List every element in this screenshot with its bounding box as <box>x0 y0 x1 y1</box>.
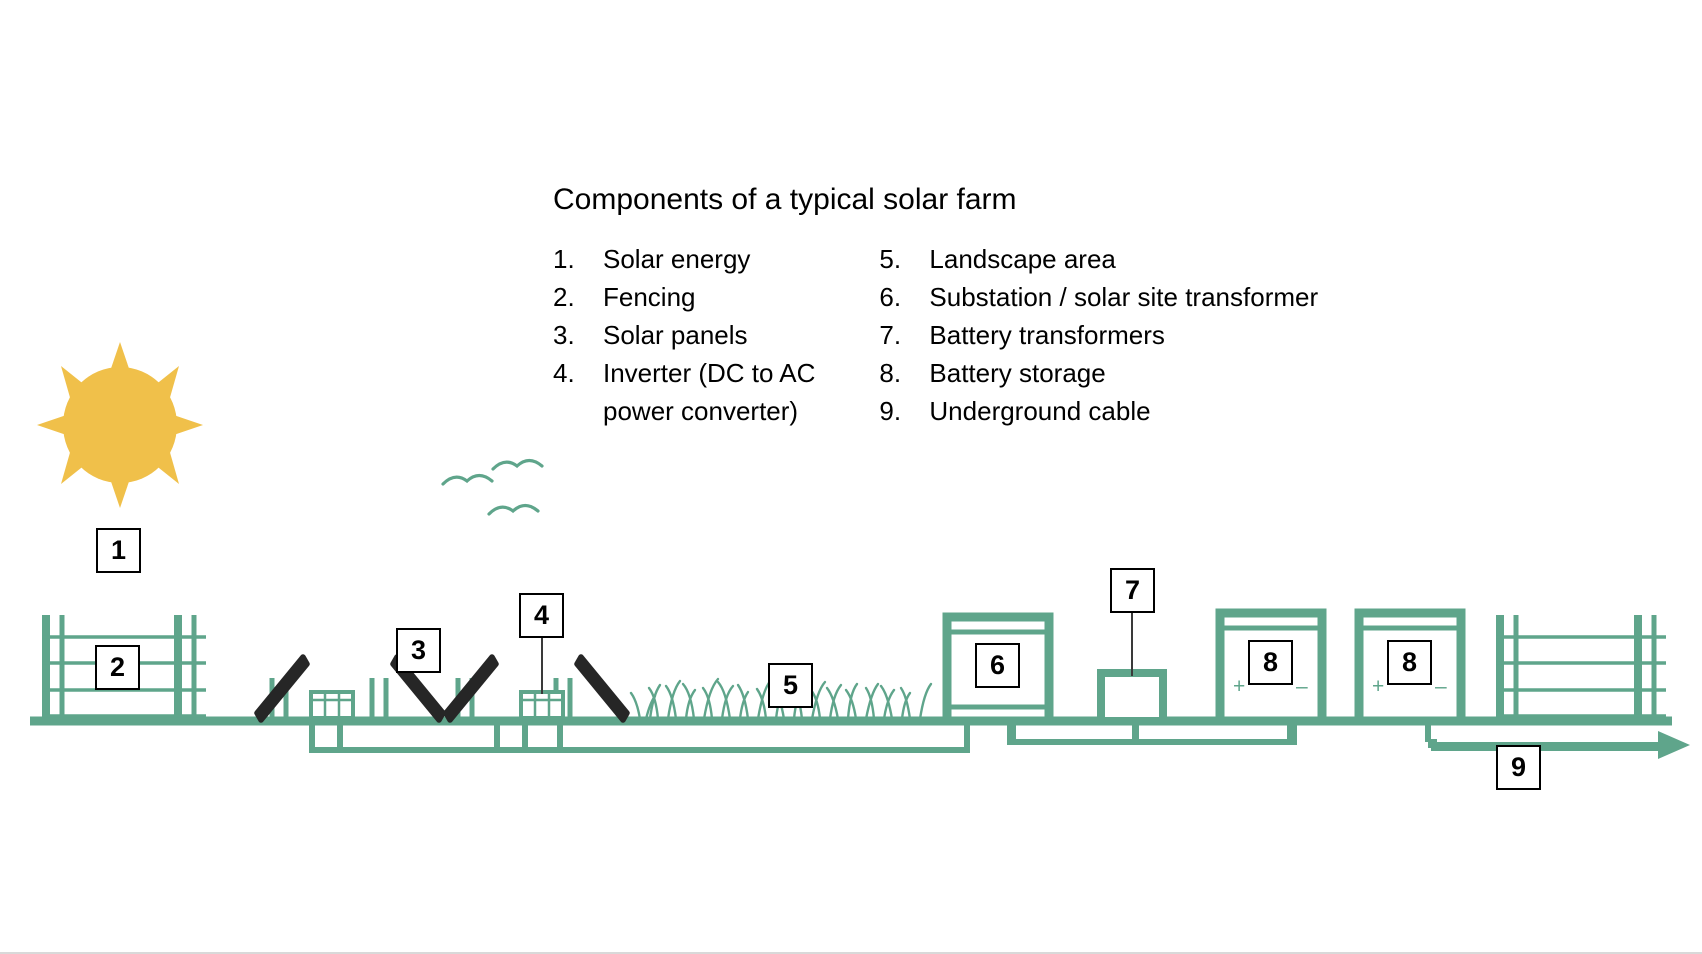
cable-arrowhead <box>1658 731 1690 759</box>
callout-5: 5 <box>768 663 813 708</box>
callout-6: 6 <box>975 643 1020 688</box>
solar-panel-group-right <box>446 638 627 721</box>
callout-2: 2 <box>95 645 140 690</box>
birds-icon <box>443 461 542 515</box>
callout-7: 7 <box>1110 568 1155 613</box>
slide-canvas: + – + – <box>0 0 1702 954</box>
solar-panel <box>577 657 627 720</box>
battery-transformer <box>1101 613 1163 721</box>
callout-8b: 8 <box>1387 640 1432 685</box>
callout-8a: 8 <box>1248 640 1293 685</box>
underground-export-cable <box>1428 731 1690 759</box>
battery-positive-terminal: + <box>1372 675 1384 698</box>
inverter-box <box>521 692 563 718</box>
battery-negative-terminal: – <box>1296 675 1308 698</box>
callout-1: 1 <box>96 528 141 573</box>
fence-right <box>1496 615 1666 721</box>
callout-3: 3 <box>396 628 441 673</box>
battery-negative-terminal: – <box>1435 675 1447 698</box>
callout-4: 4 <box>519 593 564 638</box>
inverter-box <box>311 692 353 718</box>
solar-panel <box>257 657 307 720</box>
battery-positive-terminal: + <box>1233 675 1245 698</box>
callout-9: 9 <box>1496 745 1541 790</box>
sun-icon <box>37 342 203 508</box>
solar-farm-illustration: + – + – <box>0 0 1702 954</box>
